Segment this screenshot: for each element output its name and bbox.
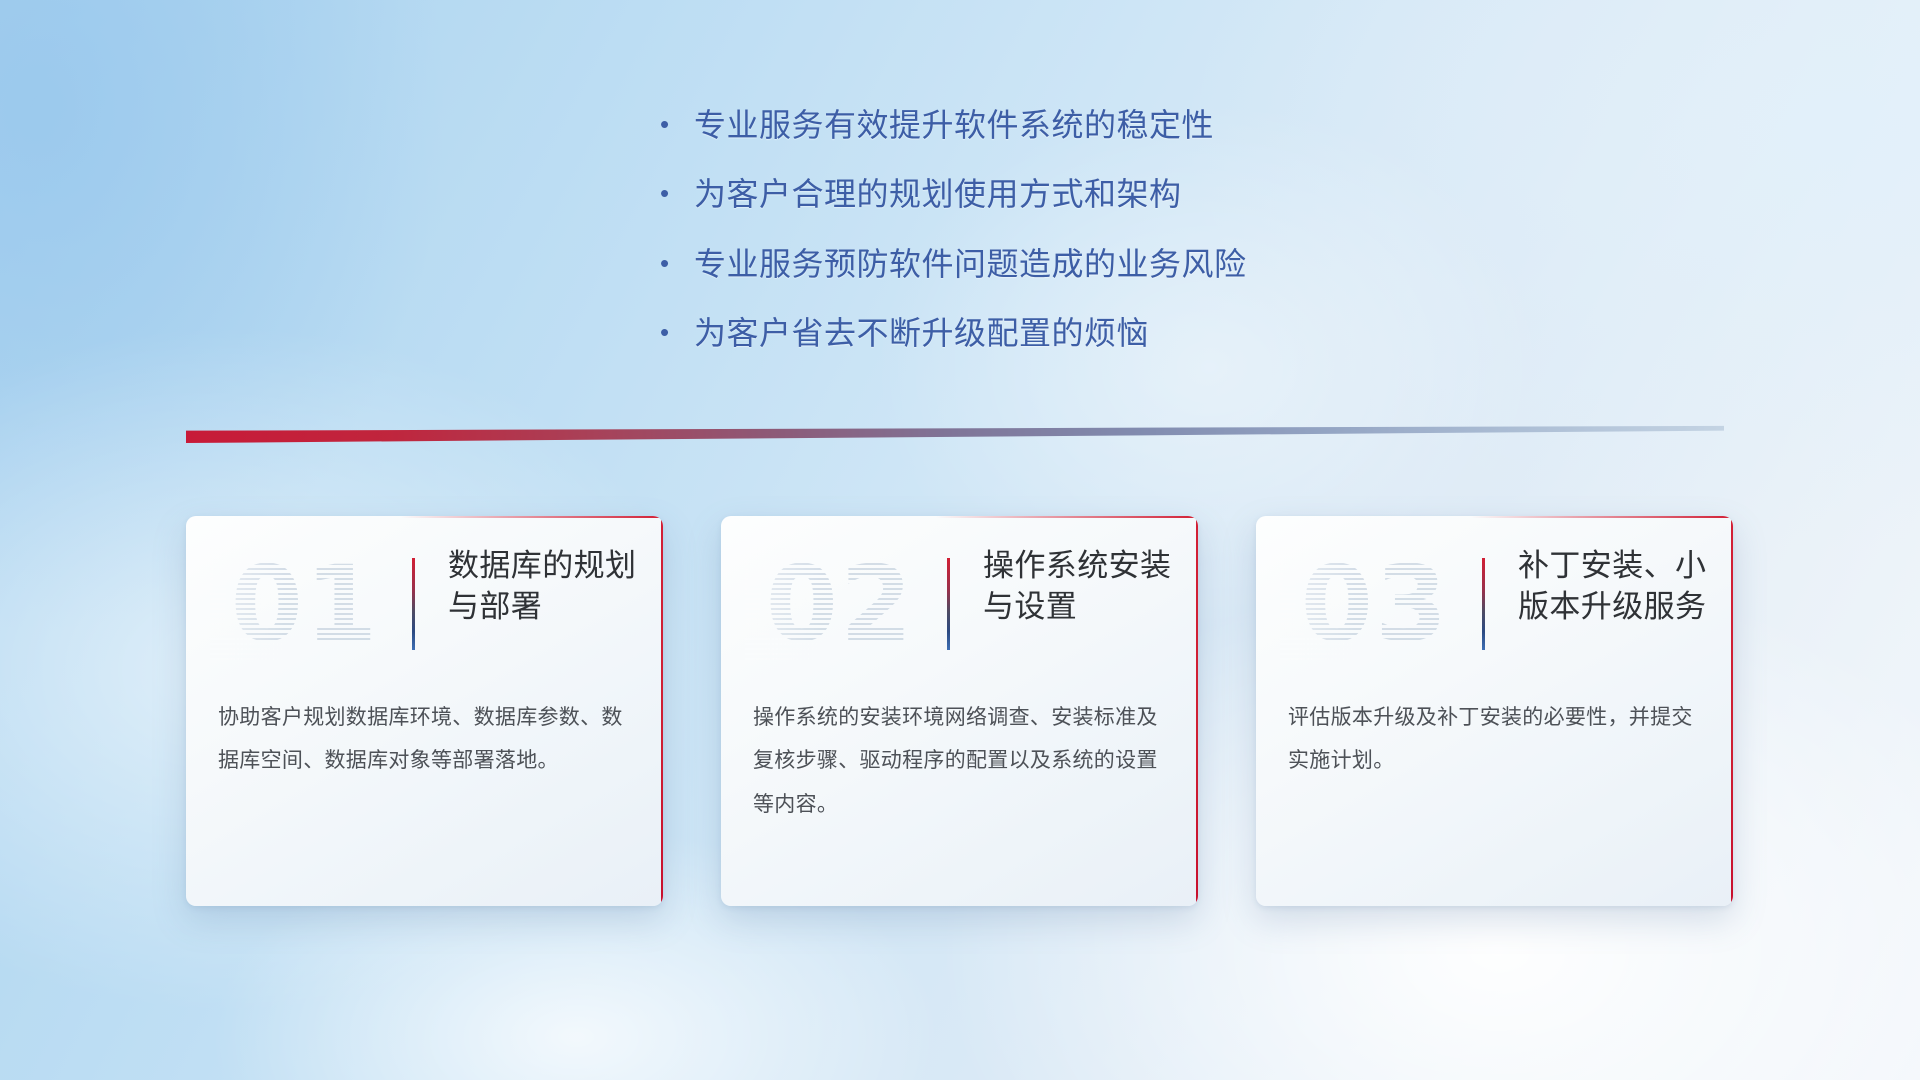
bullet-text: 为客户合理的规划使用方式和架构	[694, 175, 1182, 213]
card-number-watermark: 02	[745, 548, 935, 660]
list-item: • 专业服务预防软件问题造成的业务风险	[660, 245, 1247, 283]
bullet-dot-icon: •	[660, 319, 694, 345]
card-title: 操作系统安装与设置	[983, 546, 1188, 628]
bullet-dot-icon: •	[660, 250, 694, 276]
card-accent-top	[936, 516, 1198, 518]
service-card-02[interactable]: 02 操作系统安装与设置 操作系统的安装环境网络调查、安装标准及复核步骤、驱动程…	[721, 516, 1198, 906]
list-item: • 为客户合理的规划使用方式和架构	[660, 175, 1247, 213]
section-divider	[186, 421, 1724, 443]
list-item: • 专业服务有效提升软件系统的稳定性	[660, 106, 1247, 144]
card-title-divider	[947, 558, 950, 650]
card-title: 数据库的规划与部署	[448, 546, 653, 628]
card-header: 03 补丁安装、小版本升级服务	[1256, 544, 1733, 666]
bullet-text: 专业服务预防软件问题造成的业务风险	[694, 245, 1247, 283]
card-header: 02 操作系统安装与设置	[721, 544, 1198, 666]
bullet-dot-icon: •	[660, 180, 694, 206]
service-card-group: 01 数据库的规划与部署 协助客户规划数据库环境、数据库参数、数据库空间、数据库…	[186, 516, 1734, 906]
card-title: 补丁安装、小版本升级服务	[1518, 546, 1723, 628]
divider-wedge	[186, 421, 1724, 443]
card-title-divider	[1482, 558, 1485, 650]
list-item: • 为客户省去不断升级配置的烦恼	[660, 314, 1247, 352]
card-number-watermark: 03	[1280, 548, 1470, 660]
card-body-text: 协助客户规划数据库环境、数据库参数、数据库空间、数据库对象等部署落地。	[218, 696, 638, 783]
card-number-watermark: 01	[210, 548, 400, 660]
benefits-bullet-list: • 专业服务有效提升软件系统的稳定性 • 为客户合理的规划使用方式和架构 • 专…	[660, 106, 1247, 384]
card-body-text: 评估版本升级及补丁安装的必要性，并提交实施计划。	[1288, 696, 1708, 783]
card-accent-top	[1471, 516, 1733, 518]
card-body-text: 操作系统的安装环境网络调查、安装标准及复核步骤、驱动程序的配置以及系统的设置等内…	[753, 696, 1173, 826]
service-card-01[interactable]: 01 数据库的规划与部署 协助客户规划数据库环境、数据库参数、数据库空间、数据库…	[186, 516, 663, 906]
bullet-dot-icon: •	[660, 111, 694, 137]
bullet-text: 为客户省去不断升级配置的烦恼	[694, 314, 1149, 352]
card-title-divider	[412, 558, 415, 650]
card-accent-top	[401, 516, 663, 518]
card-header: 01 数据库的规划与部署	[186, 544, 663, 666]
slide-stage: • 专业服务有效提升软件系统的稳定性 • 为客户合理的规划使用方式和架构 • 专…	[0, 0, 1920, 1080]
service-card-03[interactable]: 03 补丁安装、小版本升级服务 评估版本升级及补丁安装的必要性，并提交实施计划。	[1256, 516, 1733, 906]
bullet-text: 专业服务有效提升软件系统的稳定性	[694, 106, 1214, 144]
